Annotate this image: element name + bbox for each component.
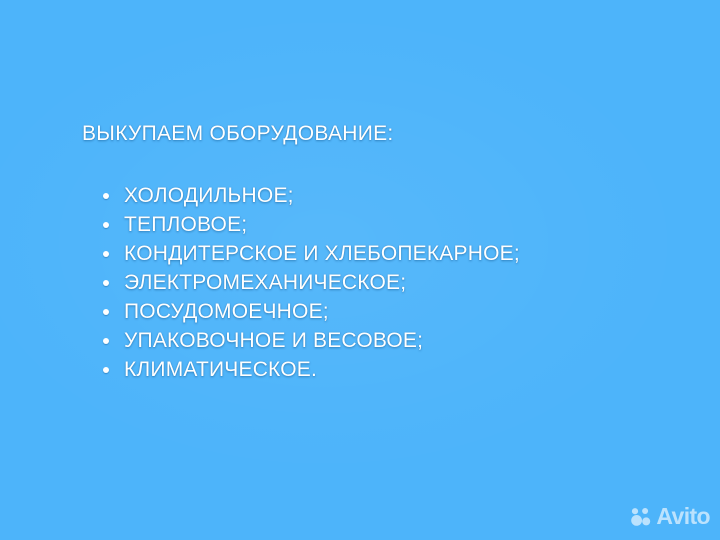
bullet-dot-icon (103, 367, 109, 373)
list-item: ПОСУДОМОЕЧНОЕ; (103, 297, 642, 326)
list-item-label: УПАКОВОЧНОЕ И ВЕСОВОЕ; (124, 329, 423, 352)
avito-dots-icon (631, 507, 653, 527)
list-item: ТЕПЛОВОЕ; (103, 210, 642, 239)
bullet-dot-icon (103, 222, 109, 228)
list-item-label: ХОЛОДИЛЬНОЕ; (124, 184, 294, 207)
bullet-dot-icon (103, 193, 109, 199)
bullet-dot-icon (103, 309, 109, 315)
list-item-label: КОНДИТЕРСКОЕ И ХЛЕБОПЕКАРНОЕ; (124, 242, 520, 265)
list-item: КОНДИТЕРСКОЕ И ХЛЕБОПЕКАРНОЕ; (103, 239, 642, 268)
bullet-dot-icon (103, 338, 109, 344)
avito-watermark: Avito (631, 505, 710, 528)
list-item: ХОЛОДИЛЬНОЕ; (103, 181, 642, 210)
slide-canvas: ВЫКУПАЕМ ОБОРУДОВАНИЕ: ХОЛОДИЛЬНОЕ; ТЕПЛ… (0, 0, 720, 540)
avito-wordmark: Avito (656, 505, 710, 528)
page-title: ВЫКУПАЕМ ОБОРУДОВАНИЕ: (82, 120, 642, 148)
bullet-dot-icon (103, 280, 109, 286)
list-item-label: ПОСУДОМОЕЧНОЕ; (124, 300, 329, 323)
slide-content: ВЫКУПАЕМ ОБОРУДОВАНИЕ: ХОЛОДИЛЬНОЕ; ТЕПЛ… (82, 120, 642, 384)
list-item-label: ЭЛЕКТРОМЕХАНИЧЕСКОЕ; (124, 271, 406, 294)
list-item: УПАКОВОЧНОЕ И ВЕСОВОЕ; (103, 326, 642, 355)
equipment-list: ХОЛОДИЛЬНОЕ; ТЕПЛОВОЕ; КОНДИТЕРСКОЕ И ХЛ… (103, 181, 642, 384)
list-item: КЛИМАТИЧЕСКОЕ. (103, 355, 642, 384)
bullet-dot-icon (103, 251, 109, 257)
list-item: ЭЛЕКТРОМЕХАНИЧЕСКОЕ; (103, 268, 642, 297)
list-item-label: КЛИМАТИЧЕСКОЕ. (124, 358, 317, 381)
list-item-label: ТЕПЛОВОЕ; (124, 213, 247, 236)
